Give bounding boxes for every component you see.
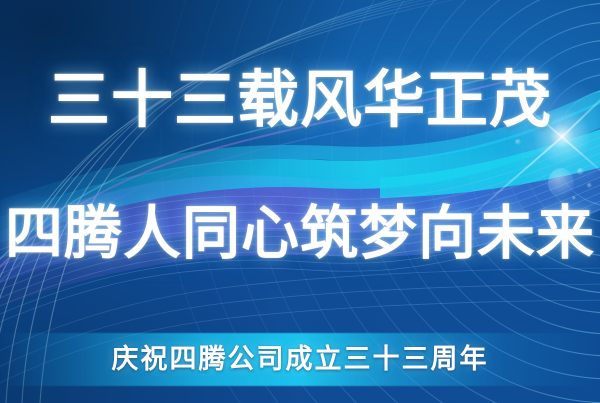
headline-line-2: 四腾人同心筑梦向未来 xyxy=(0,197,600,271)
banner-text-content: 三十三载风华正茂 四腾人同心筑梦向未来 庆祝四腾公司成立三十三周年 xyxy=(0,0,600,403)
celebration-banner: 三十三载风华正茂 四腾人同心筑梦向未来 庆祝四腾公司成立三十三周年 xyxy=(0,0,600,403)
headline-line-1: 三十三载风华正茂 xyxy=(0,62,600,140)
banner-subtitle: 庆祝四腾公司成立三十三周年 xyxy=(0,338,600,380)
